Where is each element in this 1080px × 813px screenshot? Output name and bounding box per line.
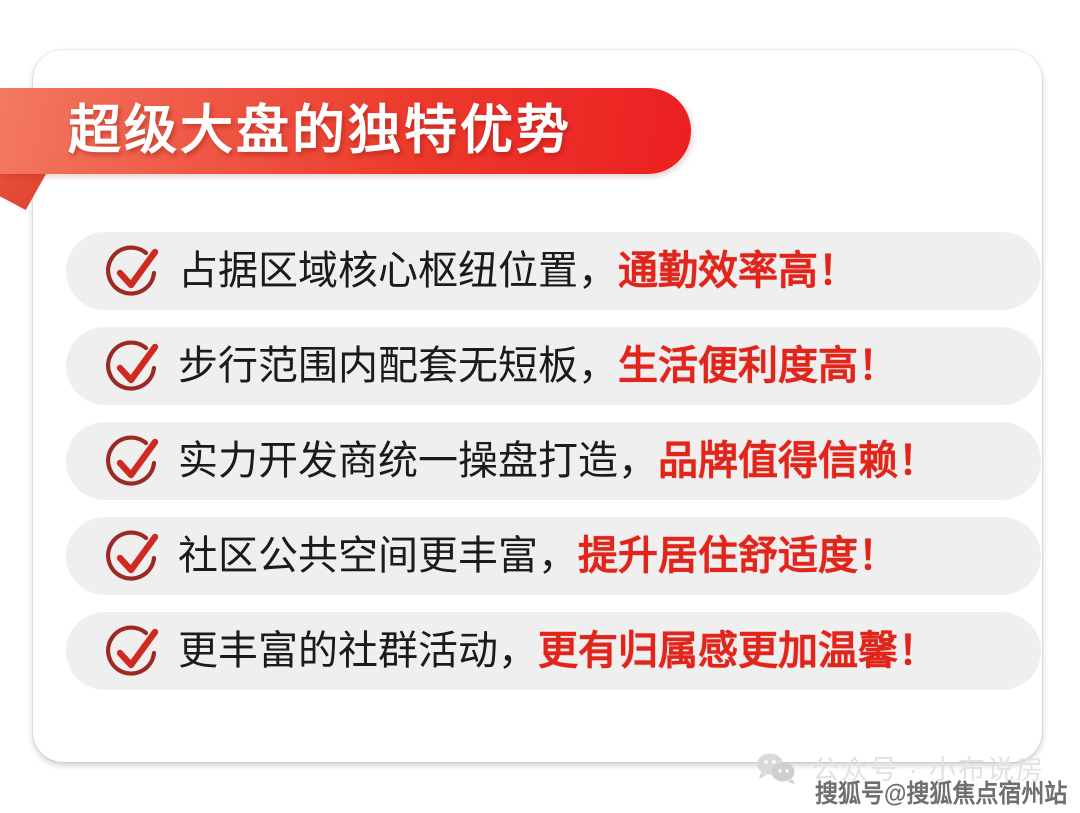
list-item-text: 更丰富的社群活动，更有归属感更加温馨！ — [178, 631, 938, 671]
wechat-bubbles-icon — [752, 751, 800, 785]
list-item-accent-text: 生活便利度高！ — [618, 344, 898, 388]
page-title: 超级大盘的独特优势 — [68, 88, 572, 174]
list-item-accent-text: 提升居住舒适度！ — [578, 534, 898, 578]
list-item: 步行范围内配套无短板，生活便利度高！ — [66, 327, 1041, 405]
list-item: 占据区域核心枢纽位置，通勤效率高！ — [66, 232, 1041, 310]
check-circle-icon — [102, 430, 164, 492]
check-circle-icon — [102, 240, 164, 302]
list-item-text: 占据区域核心枢纽位置，通勤效率高！ — [178, 251, 858, 291]
list-item-text: 实力开发商统一操盘打造，品牌值得信赖！ — [178, 441, 938, 481]
list-item-plain-text: 社区公共空间更丰富， — [178, 534, 578, 578]
list-item: 更丰富的社群活动，更有归属感更加温馨！ — [66, 612, 1041, 690]
list-item-plain-text: 步行范围内配套无短板， — [178, 344, 618, 388]
list-item-plain-text: 占据区域核心枢纽位置， — [178, 249, 618, 293]
list-item: 社区公共空间更丰富，提升居住舒适度！ — [66, 517, 1041, 595]
list-item-plain-text: 更丰富的社群活动， — [178, 629, 538, 673]
title-ribbon: 超级大盘的独特优势 — [0, 88, 691, 174]
sohu-watermark-text: 搜狐号@搜狐焦点宿州站 — [815, 774, 1067, 810]
list-item-accent-text: 更有归属感更加温馨！ — [538, 629, 938, 673]
list-item-text: 社区公共空间更丰富，提升居住舒适度！ — [178, 536, 898, 576]
list-item-accent-text: 品牌值得信赖！ — [658, 439, 938, 483]
list-item-accent-text: 通勤效率高！ — [618, 249, 858, 293]
check-circle-icon — [102, 525, 164, 587]
list-item-text: 步行范围内配套无短板，生活便利度高！ — [178, 346, 898, 386]
list-item: 实力开发商统一操盘打造，品牌值得信赖！ — [66, 422, 1041, 500]
check-circle-icon — [102, 620, 164, 682]
list-item-plain-text: 实力开发商统一操盘打造， — [178, 439, 658, 483]
check-circle-icon — [102, 335, 164, 397]
advantage-list: 占据区域核心枢纽位置，通勤效率高！ 步行范围内配套无短板，生活便利度高！ 实力开… — [33, 232, 1042, 707]
